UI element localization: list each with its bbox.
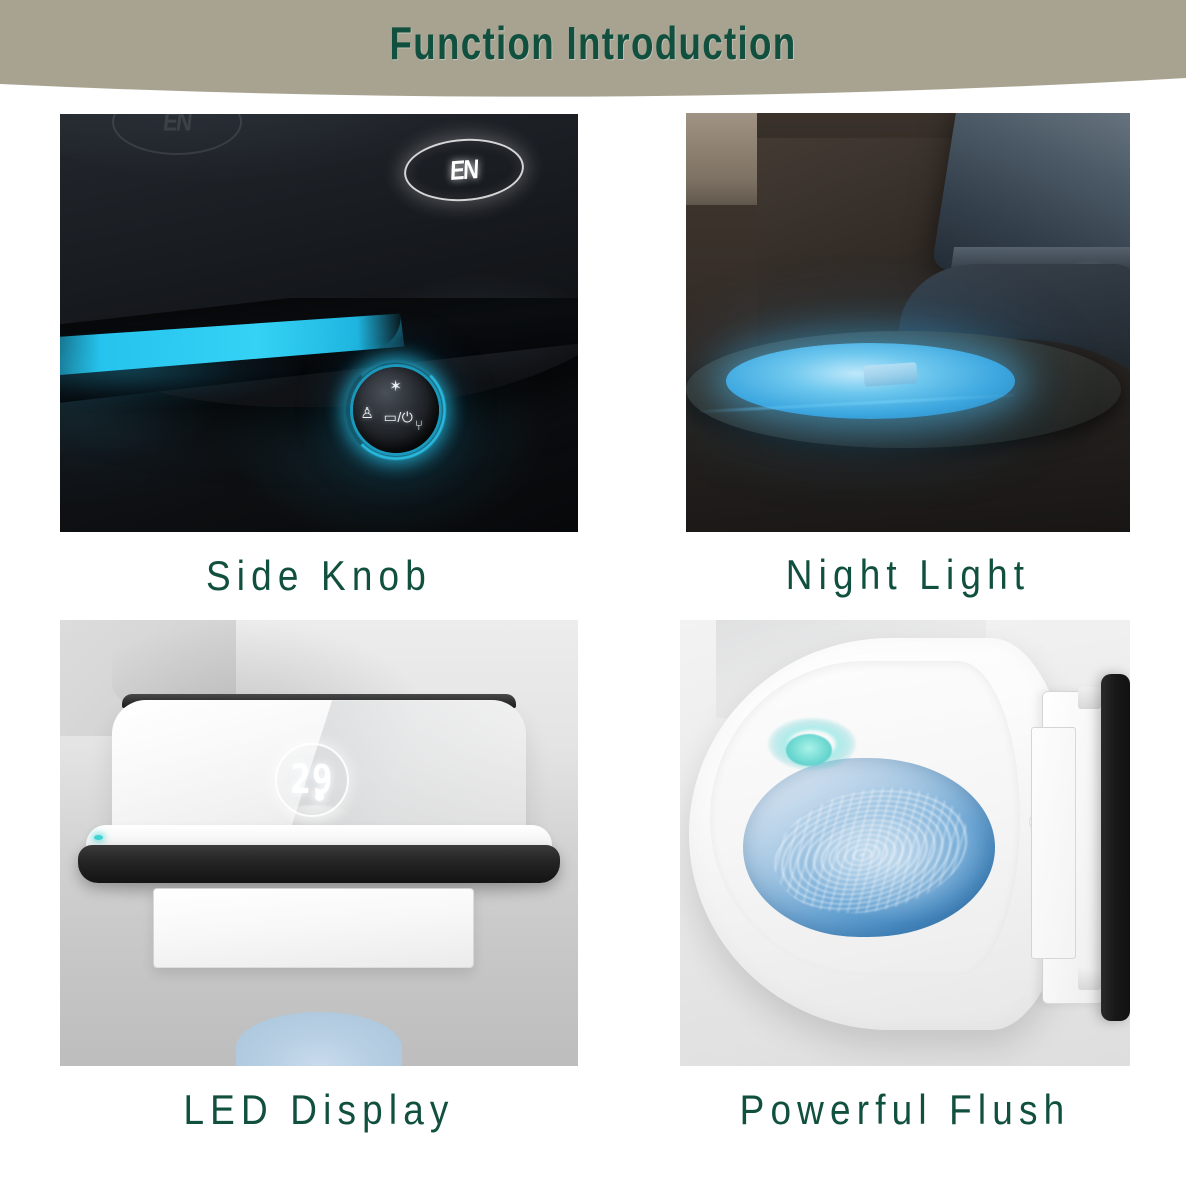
side-knob-photo: EN EN ✶ ♙ ▭/⏻ [60,114,578,532]
powerful-flush-photo: EN [680,620,1130,1066]
bowl-nozzle-flap [863,363,918,388]
brand-logo-mark: EN [450,154,479,187]
lid-inner-panel [1031,727,1076,959]
bluetooth-icon: ✶ [389,379,402,394]
side-knob-dial[interactable]: ✶ ♙ ▭/⏻ ⑂ [353,367,439,453]
caption-night-light: Night Light [713,551,1104,599]
led-display-value: 29 [290,756,333,803]
feature-card-side-knob: EN EN ✶ ♙ ▭/⏻ [60,114,578,532]
front-panel-drawer [153,888,474,968]
bowl-water-peek [236,1012,402,1066]
toilet-bowl-water [743,758,995,936]
caption-led-display: LED Display [91,1086,547,1134]
seat-black-band [78,845,560,883]
infographic-page: Function Introduction EN EN [0,0,1186,1186]
feature-grid: EN EN ✶ ♙ ▭/⏻ [0,113,1186,1186]
led-display-reflection [278,805,352,827]
power-icon: ▭/⏻ [384,410,414,424]
lid-hinge-bottom [1078,968,1101,990]
water-foam-highlight [814,819,955,905]
lid-black-strip [1101,674,1130,1022]
lid-hinge-top [1078,687,1101,709]
caption-powerful-flush: Powerful Flush [707,1086,1103,1134]
caption-side-knob: Side Knob [91,552,547,600]
led-strip-region [60,298,578,448]
powerful-flush-scene: EN [680,620,1130,1066]
status-led-icon [94,835,103,840]
led-display-scene: 29 [60,620,578,1066]
user-seat-icon: ♙ [360,406,373,421]
side-knob-scene: EN EN ✶ ♙ ▭/⏻ [60,114,578,532]
feature-card-night-light: Night Light [686,113,1130,532]
feature-card-led-display: 29 LED Display [60,620,578,1066]
night-light-photo [686,113,1130,532]
night-light-scene [686,113,1130,532]
led-display-photo: 29 [60,620,578,1066]
nozzle-indicator-icon [786,734,832,766]
page-title: Function Introduction [119,0,1068,86]
feature-card-powerful-flush: EN Powerful Flush [680,620,1130,1066]
header-banner: Function Introduction [0,0,1186,112]
seat-lift-icon: ⑂ [415,418,423,432]
